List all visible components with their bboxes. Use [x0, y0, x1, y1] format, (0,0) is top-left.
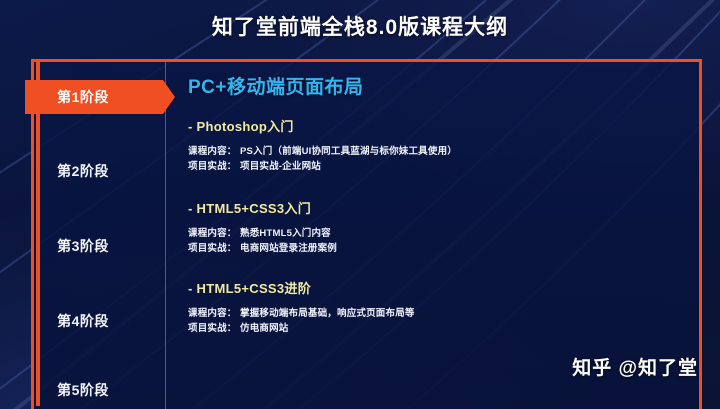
- stage-list: 第1阶段 第2阶段 第3阶段 第4阶段 第5阶段: [0, 60, 166, 409]
- stage-item-4-label: 第4阶段: [57, 313, 109, 329]
- stage-item-3[interactable]: 第3阶段: [0, 229, 166, 263]
- stage-item-1-label: 第1阶段: [57, 89, 109, 105]
- module-3-project-value: 仿电商网站: [240, 323, 289, 334]
- module-2-course-row: 课程内容：熟悉HTML5入门内容: [188, 226, 688, 241]
- watermark: 知乎 @知了堂: [572, 353, 698, 380]
- stage-item-5[interactable]: 第5阶段: [0, 373, 166, 407]
- stage-item-4[interactable]: 第4阶段: [0, 304, 166, 338]
- module-1-course-row: 课程内容：PS入门（前端UI协同工具蓝湖与标你妹工具使用）: [188, 144, 688, 159]
- module-2-course-label: 课程内容：: [188, 226, 240, 241]
- module-1-project-value: 项目实战-企业网站: [240, 161, 321, 172]
- module-2-name: - HTML5+CSS3入门: [188, 198, 688, 217]
- stage-item-5-label: 第5阶段: [57, 382, 109, 398]
- section-title: PC+移动端页面布局: [188, 72, 688, 99]
- stage-item-1[interactable]: 第1阶段: [0, 80, 166, 114]
- module-1-course-value: PS入门（前端UI协同工具蓝湖与标你妹工具使用）: [240, 146, 457, 157]
- stage-item-3-label: 第3阶段: [57, 238, 109, 254]
- module-2-project-row: 项目实战：电商网站登录注册案例: [188, 241, 688, 256]
- module-3-course-label: 课程内容：: [188, 306, 240, 321]
- page-title: 知了堂前端全栈8.0版课程大纲: [0, 11, 720, 41]
- module-2-project-value: 电商网站登录注册案例: [240, 243, 337, 254]
- module-1-course-label: 课程内容：: [188, 144, 240, 159]
- module-1: - Photoshop入门 课程内容：PS入门（前端UI协同工具蓝湖与标你妹工具…: [188, 116, 688, 174]
- module-2-project-label: 项目实战：: [188, 241, 240, 256]
- module-1-name: - Photoshop入门: [188, 116, 688, 135]
- module-3-name: - HTML5+CSS3进阶: [188, 278, 688, 297]
- module-2: - HTML5+CSS3入门 课程内容：熟悉HTML5入门内容 项目实战：电商网…: [188, 198, 688, 256]
- content-panel: PC+移动端页面布局 - Photoshop入门 课程内容：PS入门（前端UI协…: [188, 72, 688, 352]
- module-3-project-row: 项目实战：仿电商网站: [188, 321, 688, 336]
- slide-canvas: 知了堂前端全栈8.0版课程大纲 第1阶段 第2阶段 第3阶段 第4阶段 第5阶段…: [0, 0, 720, 409]
- module-3-course-row: 课程内容：掌握移动端布局基础，响应式页面布局等: [188, 306, 688, 321]
- module-3-project-label: 项目实战：: [188, 321, 240, 336]
- stage-item-2-label: 第2阶段: [57, 163, 109, 179]
- module-3-course-value: 掌握移动端布局基础，响应式页面布局等: [240, 308, 415, 319]
- module-1-project-row: 项目实战：项目实战-企业网站: [188, 159, 688, 174]
- module-3: - HTML5+CSS3进阶 课程内容：掌握移动端布局基础，响应式页面布局等 项…: [188, 278, 688, 336]
- stage-item-2[interactable]: 第2阶段: [0, 154, 166, 188]
- module-1-project-label: 项目实战：: [188, 159, 240, 174]
- module-2-course-value: 熟悉HTML5入门内容: [240, 228, 331, 239]
